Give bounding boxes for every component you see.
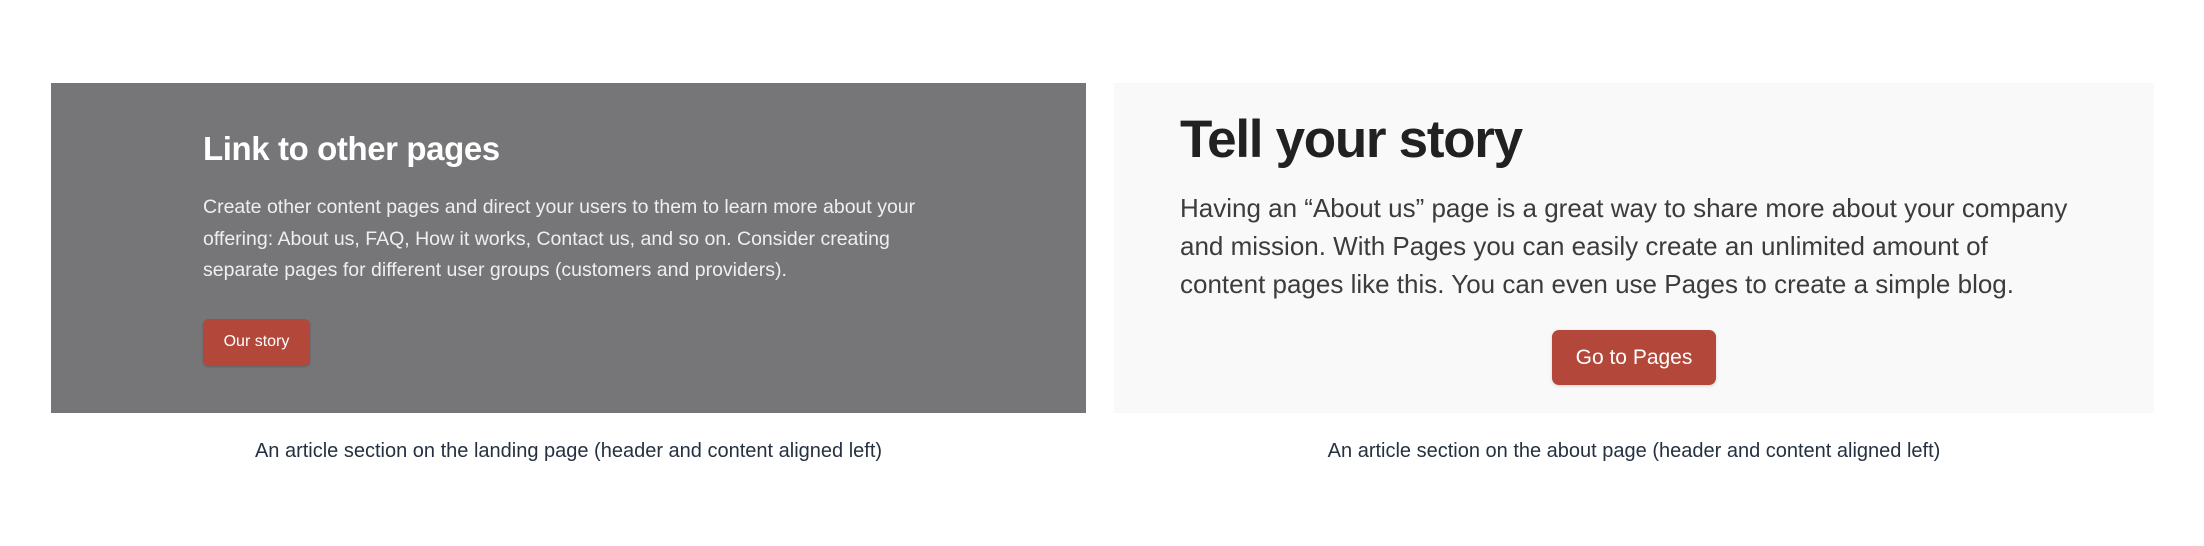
about-article-caption: An article section on the about page (he… [1114,438,2154,464]
landing-page-article-card: Link to other pages Create other content… [51,83,1086,413]
about-article-body: Having an “About us” page is a great way… [1180,190,2080,304]
landing-article-caption: An article section on the landing page (… [51,438,1086,464]
examples-stage: Link to other pages Create other content… [0,0,2204,546]
our-story-button[interactable]: Our story [203,319,310,366]
about-article-heading: Tell your story [1180,111,1522,168]
go-to-pages-button[interactable]: Go to Pages [1552,330,1717,385]
landing-article-heading: Link to other pages [203,130,500,168]
about-article-button-row: Go to Pages [1180,330,2088,385]
about-page-article-card: Tell your story Having an “About us” pag… [1114,83,2154,413]
landing-article-body: Create other content pages and direct yo… [203,192,934,287]
